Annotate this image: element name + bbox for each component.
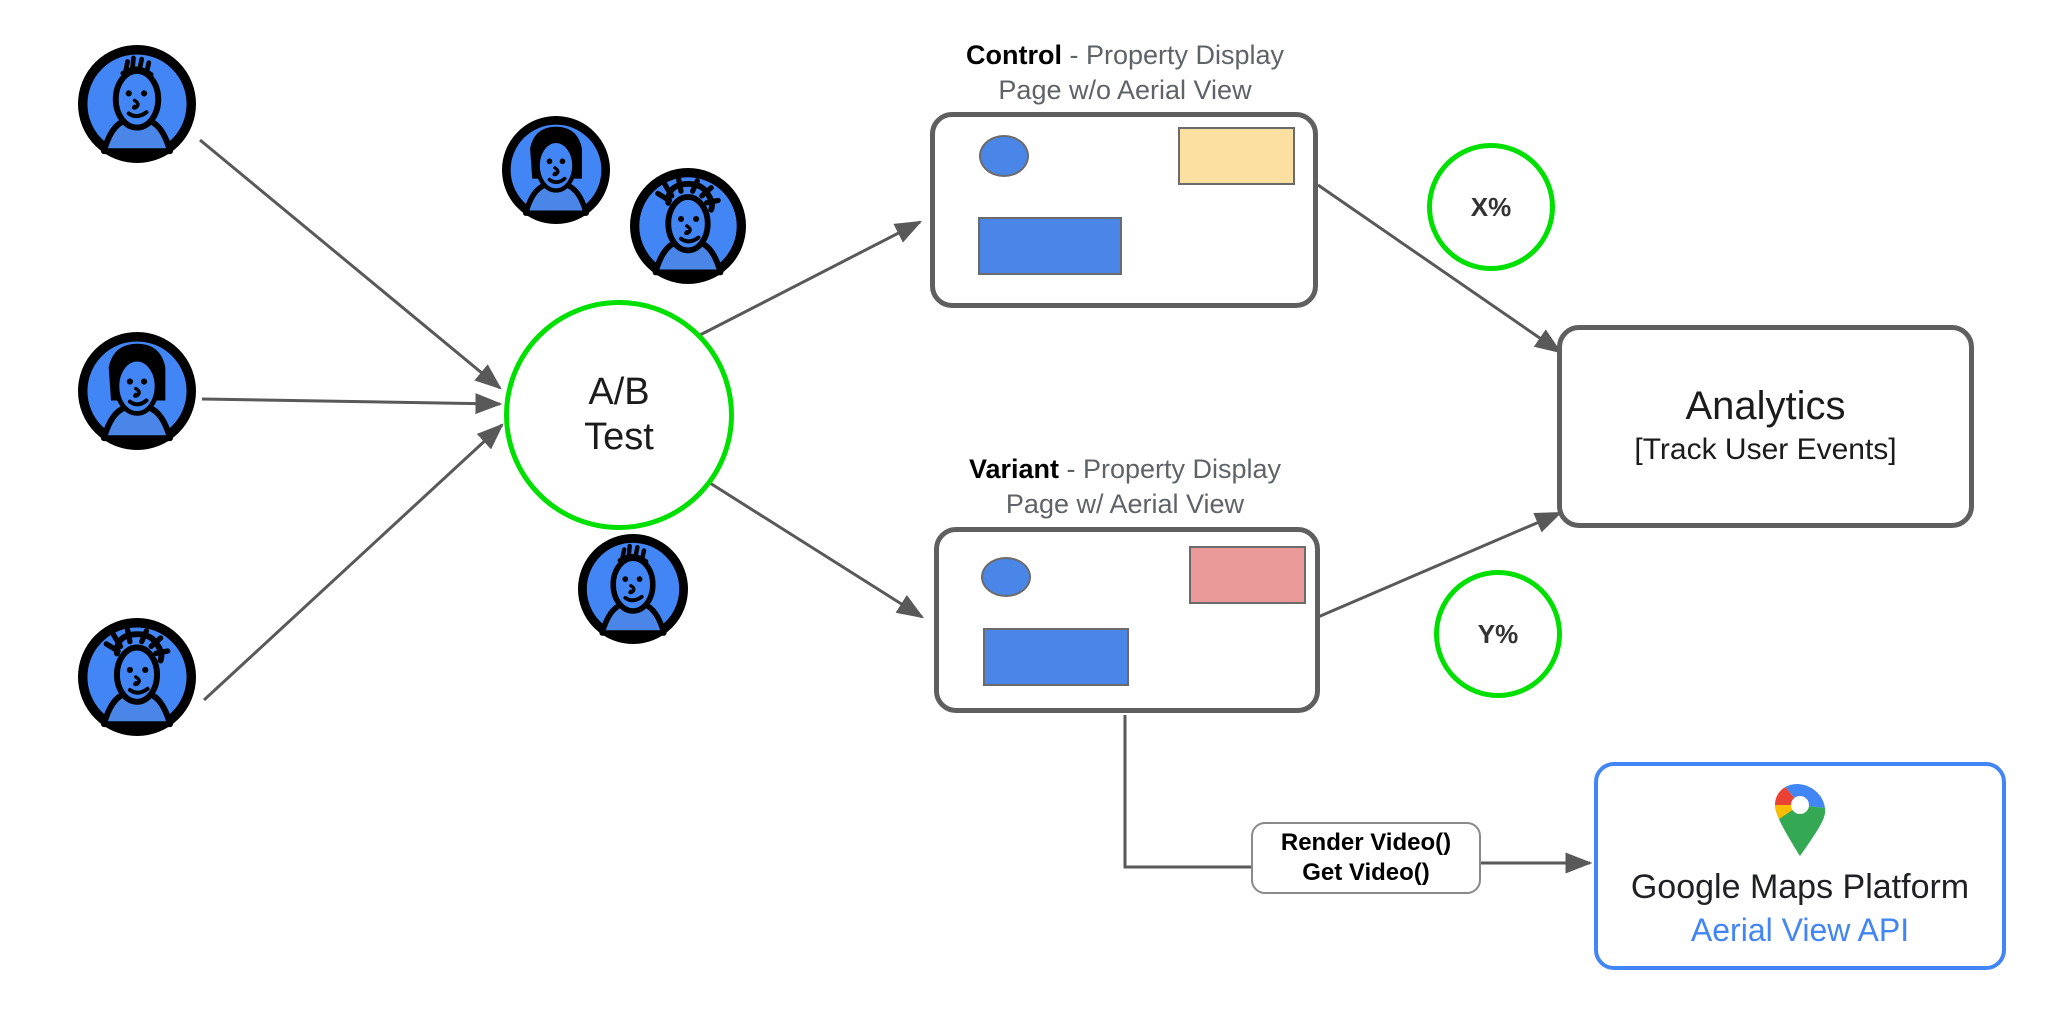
edge-user-1-to-ab-test <box>200 140 500 388</box>
variant-caption: Variant - Property Display Page w/ Aeria… <box>880 452 1370 521</box>
edge-user-3-to-ab-test <box>204 425 502 700</box>
variant-rate-label: Y% <box>1478 619 1518 650</box>
google-maps-pin-icon <box>1773 783 1827 862</box>
user-avatar-icon <box>78 332 196 450</box>
variant-caption-rest: - Property Display <box>1059 454 1281 484</box>
variant-page-mockup[interactable] <box>934 527 1320 713</box>
edge-user-2-to-ab-test <box>202 399 500 404</box>
variant-content-placeholder <box>983 628 1129 686</box>
user-avatar-icon <box>630 168 746 284</box>
ab-test-label-line2: Test <box>584 415 654 460</box>
google-maps-platform-node[interactable]: Google Maps Platform Aerial View API <box>1594 762 2006 970</box>
control-content-placeholder <box>978 217 1122 275</box>
aerial-view-api-label: Aerial View API <box>1691 911 1909 949</box>
analytics-node[interactable]: Analytics [Track User Events] <box>1557 325 1974 528</box>
control-rate-badge[interactable]: X% <box>1427 143 1555 271</box>
user-avatar-1[interactable] <box>78 45 196 163</box>
control-avatar-placeholder <box>979 135 1029 177</box>
user-avatar-5[interactable] <box>630 168 746 284</box>
control-page-mockup[interactable] <box>930 112 1318 308</box>
variant-rate-badge[interactable]: Y% <box>1434 570 1562 698</box>
ab-test-label-line1: A/B <box>588 370 649 415</box>
render-video-label-line1: Render Video() <box>1281 828 1451 858</box>
control-caption-rest: - Property Display <box>1062 40 1284 70</box>
user-avatar-2[interactable] <box>78 332 196 450</box>
user-avatar-icon <box>78 45 196 163</box>
user-avatar-icon <box>502 116 610 224</box>
control-media-placeholder <box>1178 127 1295 185</box>
user-avatar-icon <box>578 534 688 644</box>
analytics-subtitle: [Track User Events] <box>1634 431 1896 469</box>
variant-aerial-view-placeholder <box>1189 546 1306 604</box>
control-caption-line2: Page w/o Aerial View <box>998 75 1251 105</box>
variant-avatar-placeholder <box>981 557 1031 597</box>
user-avatar-6[interactable] <box>578 534 688 644</box>
render-video-node[interactable]: Render Video() Get Video() <box>1251 822 1481 894</box>
user-avatar-3[interactable] <box>78 618 196 736</box>
render-video-label-line2: Get Video() <box>1302 858 1430 888</box>
control-rate-label: X% <box>1471 192 1511 223</box>
google-maps-platform-title: Google Maps Platform <box>1631 868 1969 907</box>
ab-test-node[interactable]: A/B Test <box>504 300 734 530</box>
control-caption: Control - Property Display Page w/o Aeri… <box>880 38 1370 107</box>
control-caption-bold: Control <box>966 40 1062 70</box>
variant-caption-line2: Page w/ Aerial View <box>1006 489 1244 519</box>
edge-variant-to-render-video <box>1125 715 1251 867</box>
user-avatar-4[interactable] <box>502 116 610 224</box>
user-avatar-icon <box>78 618 196 736</box>
diagram-canvas: A/B Test Control - Property Display Page… <box>0 0 2048 1017</box>
variant-caption-bold: Variant <box>969 454 1059 484</box>
analytics-title: Analytics <box>1685 384 1845 429</box>
